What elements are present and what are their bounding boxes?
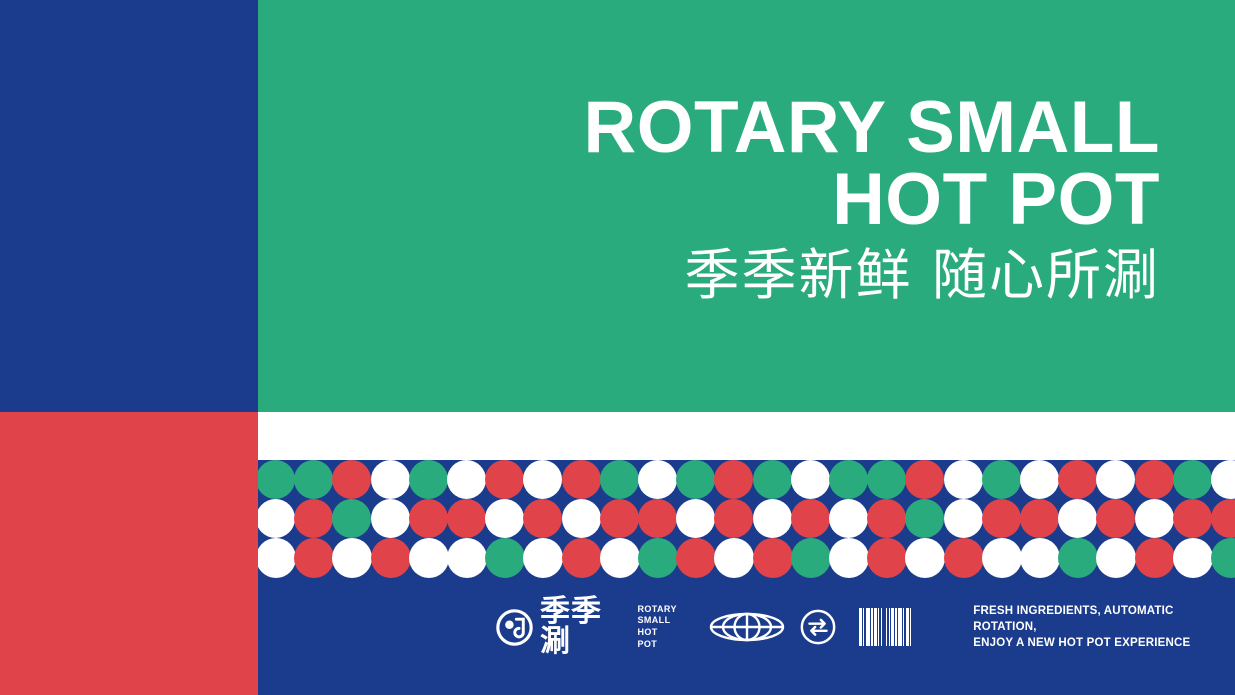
pattern-dot xyxy=(447,499,486,538)
pattern-dot xyxy=(791,460,830,499)
pattern-dot xyxy=(753,460,792,499)
pattern-dot xyxy=(867,499,906,538)
pattern-dot xyxy=(332,538,372,578)
pattern-dot xyxy=(447,538,487,578)
pattern-dot xyxy=(905,460,944,499)
pattern-dot xyxy=(1020,538,1060,578)
pattern-dot xyxy=(523,460,562,499)
pattern-dot xyxy=(294,499,333,538)
pattern-dot xyxy=(294,460,333,499)
pattern-dot xyxy=(371,499,410,538)
headline-block: ROTARY SMALL HOT POT 季季新鲜 随心所涮 xyxy=(584,92,1160,308)
pattern-dot xyxy=(944,538,984,578)
pattern-dot xyxy=(638,499,677,538)
pattern-dot xyxy=(523,538,563,578)
barcode-bar xyxy=(911,608,913,646)
brand-name-chinese: 季季涮 xyxy=(540,597,630,657)
pattern-dot xyxy=(1020,499,1059,538)
pattern-dot xyxy=(791,499,830,538)
pattern-dot xyxy=(409,460,448,499)
pattern-dot xyxy=(867,460,906,499)
left-column-navy-block xyxy=(0,0,258,412)
pattern-dot xyxy=(829,499,868,538)
pattern-dot xyxy=(1096,499,1135,538)
pattern-dot xyxy=(982,538,1022,578)
pattern-dot xyxy=(332,460,371,499)
pattern-dot xyxy=(485,499,524,538)
white-separator-band xyxy=(258,412,1235,460)
pattern-dot xyxy=(294,538,334,578)
headline-line-2: HOT POT xyxy=(584,164,1160,236)
pattern-dot xyxy=(638,460,677,499)
pattern-dot xyxy=(1211,499,1235,538)
pattern-dot xyxy=(714,460,753,499)
pattern-dot xyxy=(1173,538,1213,578)
globe-icon xyxy=(709,607,785,647)
tagline-line-2: ENJOY A NEW HOT POT EXPERIENCE xyxy=(973,635,1235,651)
pattern-dot xyxy=(1058,460,1097,499)
pattern-dot xyxy=(258,460,295,499)
pattern-dot xyxy=(1211,460,1235,499)
pattern-dot xyxy=(714,538,754,578)
pattern-dot xyxy=(1211,538,1235,578)
pattern-dot xyxy=(944,499,983,538)
pattern-dot xyxy=(982,499,1021,538)
dot-pattern-grid xyxy=(258,460,1235,582)
left-color-column xyxy=(0,0,258,695)
brand-name-english: ROTARY SMALL HOT POT xyxy=(637,604,679,650)
tagline-line-1: FRESH INGREDIENTS, AUTOMATIC ROTATION, xyxy=(973,603,1235,636)
pattern-dot xyxy=(600,460,639,499)
pattern-dot xyxy=(1058,499,1097,538)
pattern-dot xyxy=(714,499,753,538)
pattern-dot xyxy=(753,499,792,538)
pattern-dot xyxy=(829,460,868,499)
pattern-dot xyxy=(676,499,715,538)
footer-strip: 季季涮 ROTARY SMALL HOT POT FRESH INGREDIEN… xyxy=(258,596,1235,658)
exchange-arrows-icon xyxy=(799,608,837,646)
pattern-dot xyxy=(1058,538,1098,578)
dot-pattern-row xyxy=(258,538,1235,582)
pattern-dot xyxy=(258,538,296,578)
dot-pattern-row xyxy=(258,460,1235,499)
brand-lockup: 季季涮 ROTARY SMALL HOT POT xyxy=(496,597,679,657)
pattern-dot xyxy=(523,499,562,538)
pattern-dot xyxy=(485,538,525,578)
poster-canvas: ROTARY SMALL HOT POT 季季新鲜 随心所涮 季季涮 ROTAR… xyxy=(0,0,1235,695)
pattern-dot xyxy=(791,538,831,578)
brand-en-line-1: ROTARY xyxy=(637,604,679,616)
pattern-dot xyxy=(1096,460,1135,499)
dot-pattern-row xyxy=(258,499,1235,538)
pattern-dot xyxy=(409,499,448,538)
pattern-dot xyxy=(485,460,524,499)
pattern-dot xyxy=(1135,460,1174,499)
pattern-dot xyxy=(905,538,945,578)
rotary-hotpot-logo-icon xyxy=(496,609,533,646)
pattern-dot xyxy=(638,538,678,578)
pattern-dot xyxy=(753,538,793,578)
pattern-dot xyxy=(829,538,869,578)
headline-line-1: ROTARY SMALL xyxy=(584,92,1160,164)
pattern-dot xyxy=(1173,460,1212,499)
headline-subtitle-chinese: 季季新鲜 随心所涮 xyxy=(584,243,1160,308)
left-column-red-block xyxy=(0,412,258,695)
pattern-dot xyxy=(409,538,449,578)
pattern-dot xyxy=(562,538,602,578)
brand-en-line-3: HOT POT xyxy=(637,627,679,650)
pattern-dot xyxy=(600,499,639,538)
pattern-dot xyxy=(676,460,715,499)
green-header-panel: ROTARY SMALL HOT POT 季季新鲜 随心所涮 xyxy=(258,0,1235,412)
barcode-icon xyxy=(859,608,949,646)
pattern-dot xyxy=(905,499,944,538)
pattern-dot xyxy=(1173,499,1212,538)
pattern-dot xyxy=(676,538,716,578)
pattern-dot xyxy=(867,538,907,578)
pattern-dot xyxy=(332,499,371,538)
pattern-dot xyxy=(982,460,1021,499)
tagline-block: FRESH INGREDIENTS, AUTOMATIC ROTATION, E… xyxy=(973,603,1235,652)
pattern-dot xyxy=(371,538,411,578)
pattern-dot xyxy=(944,460,983,499)
pattern-dot xyxy=(258,499,295,538)
pattern-dot xyxy=(562,499,601,538)
pattern-dot xyxy=(371,460,410,499)
pattern-dot xyxy=(1135,499,1174,538)
pattern-dot xyxy=(562,460,601,499)
pattern-dot xyxy=(1096,538,1136,578)
pattern-dot xyxy=(1135,538,1175,578)
pattern-dot xyxy=(600,538,640,578)
pattern-dot xyxy=(1020,460,1059,499)
brand-en-line-2: SMALL xyxy=(637,615,679,627)
pattern-dot xyxy=(447,460,486,499)
